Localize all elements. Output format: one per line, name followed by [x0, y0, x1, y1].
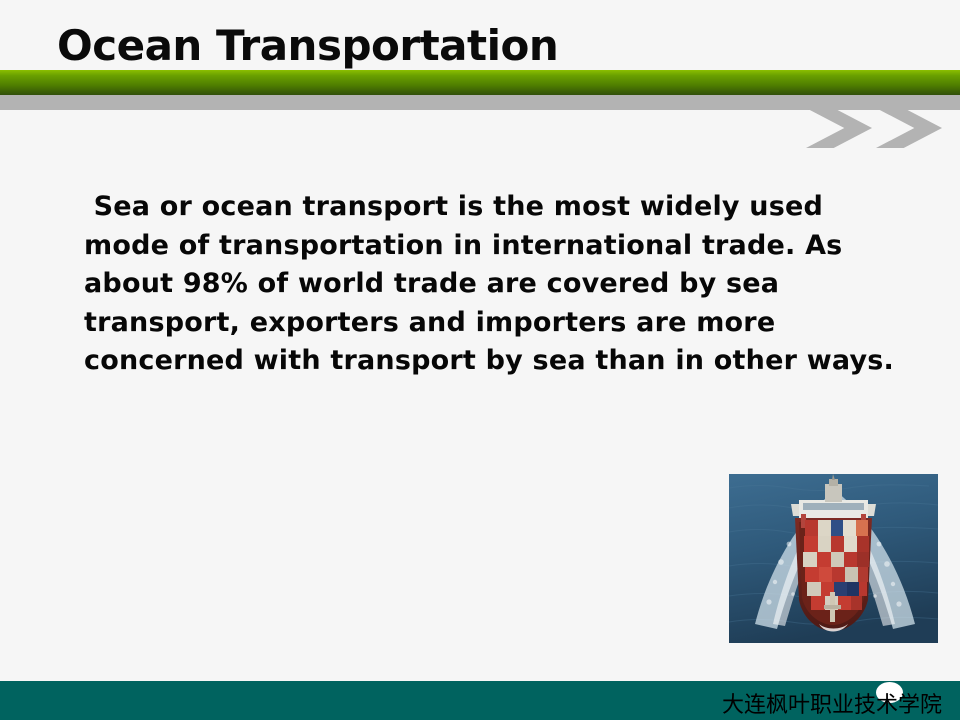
green-accent-bar	[0, 70, 960, 95]
slide-canvas: Ocean Transportation Sea or ocean transp…	[0, 0, 960, 720]
container-ship-photo	[729, 474, 938, 643]
page-title: Ocean Transportation	[57, 22, 558, 70]
institution-name: 大连枫叶职业技术学院	[722, 687, 942, 719]
chevron-group	[806, 108, 960, 148]
chevron-right-icon	[876, 108, 942, 148]
chevron-right-icon	[806, 108, 872, 148]
body-paragraph: Sea or ocean transport is the most widel…	[84, 188, 914, 381]
